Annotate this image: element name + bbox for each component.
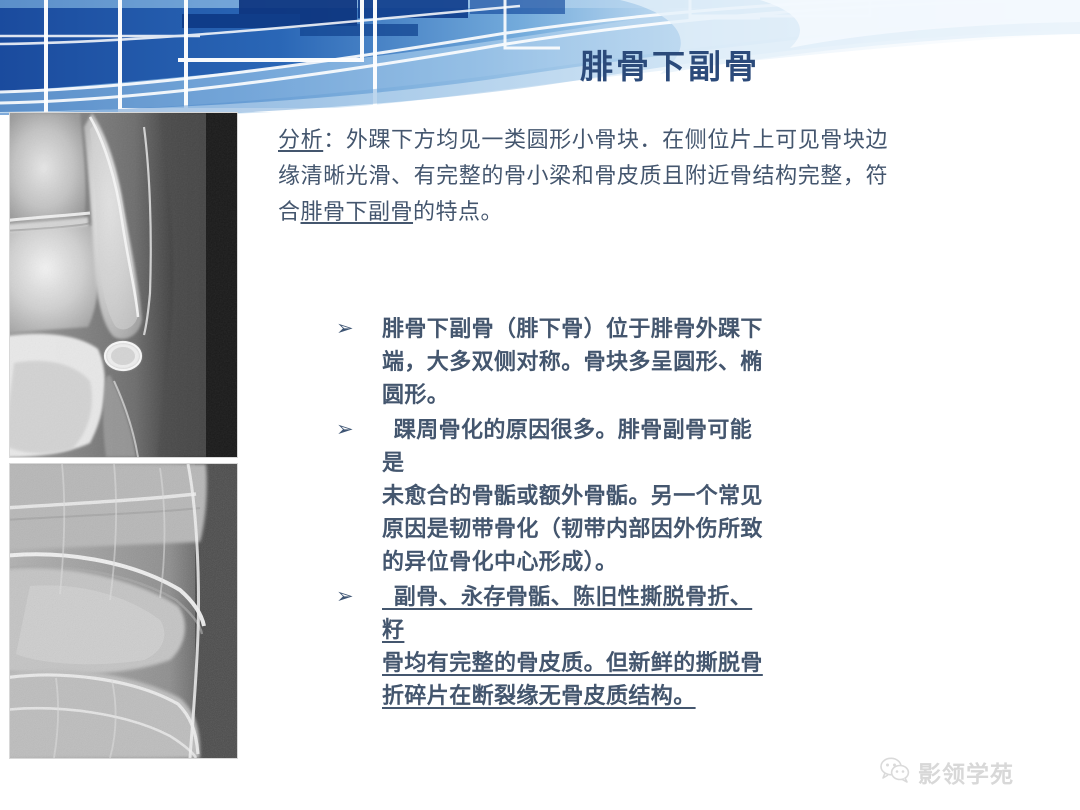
list-item: ➢ 副骨、永存骨骺、陈旧性撕脱骨折、 籽 骨均有完整的骨皮质。但新鲜的撕脱骨 折…: [336, 580, 881, 712]
bullet-line: 端，大多双侧对称。骨块多呈圆形、椭: [382, 345, 881, 378]
bullet-line: 未愈合的骨骺或额外骨骺。另一个常见: [382, 479, 881, 512]
list-item: ➢ 腓骨下副骨（腓下骨）位于腓骨外踝下 端，大多双侧对称。骨块多呈圆形、椭 圆形…: [336, 312, 881, 411]
wechat-icon: [880, 757, 910, 788]
watermark: 影领学苑: [880, 755, 1014, 789]
bullet-line: 副骨、永存骨骺、陈旧性撕脱骨折、: [382, 580, 881, 613]
list-item-text: 腓骨下副骨（腓下骨）位于腓骨外踝下 端，大多双侧对称。骨块多呈圆形、椭 圆形。: [382, 312, 881, 411]
list-item: ➢ 踝周骨化的原因很多。腓骨副骨可能 是 未愈合的骨骺或额外骨骺。另一个常见 原…: [336, 413, 881, 578]
bullet-line: 踝周骨化的原因很多。腓骨副骨可能: [382, 413, 881, 446]
analysis-tail: 的特点。: [413, 199, 503, 224]
bullet-line: 的异位骨化中心形成）。: [382, 545, 881, 578]
bullet-line: 原因是韧带骨化（韧带内部因外伤所致: [382, 512, 881, 545]
arrow-bullet-icon: ➢: [336, 312, 382, 345]
ankle-xray-lateral-view: [10, 464, 237, 758]
list-item-text: 副骨、永存骨骺、陈旧性撕脱骨折、 籽 骨均有完整的骨皮质。但新鲜的撕脱骨 折碎片…: [382, 580, 881, 712]
page-title: 腓骨下副骨: [440, 40, 900, 88]
bullet-line: 骨均有完整的骨皮质。但新鲜的撕脱骨: [382, 646, 881, 679]
list-item-text: 踝周骨化的原因很多。腓骨副骨可能 是 未愈合的骨骺或额外骨骺。另一个常见 原因是…: [382, 413, 881, 578]
analysis-colon: ：: [323, 127, 346, 152]
bullet-line: 圆形。: [382, 378, 881, 411]
ankle-xray-ap-view: [10, 113, 237, 457]
analysis-paragraph: 分析：外踝下方均见一类圆形小骨块．在侧位片上可见骨块边缘清晰光滑、有完整的骨小梁…: [278, 122, 888, 230]
bullet-line: 折碎片在断裂缘无骨皮质结构。: [382, 679, 881, 712]
analysis-emphasis: 腓骨下副骨: [301, 199, 414, 224]
bullet-list: ➢ 腓骨下副骨（腓下骨）位于腓骨外踝下 端，大多双侧对称。骨块多呈圆形、椭 圆形…: [336, 312, 881, 714]
bullet-line: 籽: [382, 613, 881, 646]
bullet-line: 是: [382, 446, 881, 479]
arrow-bullet-icon: ➢: [336, 413, 382, 446]
bullet-line: 腓骨下副骨（腓下骨）位于腓骨外踝下: [382, 312, 881, 345]
arrow-bullet-icon: ➢: [336, 580, 382, 613]
analysis-label: 分析: [278, 127, 323, 152]
watermark-label: 影领学苑: [918, 755, 1014, 789]
